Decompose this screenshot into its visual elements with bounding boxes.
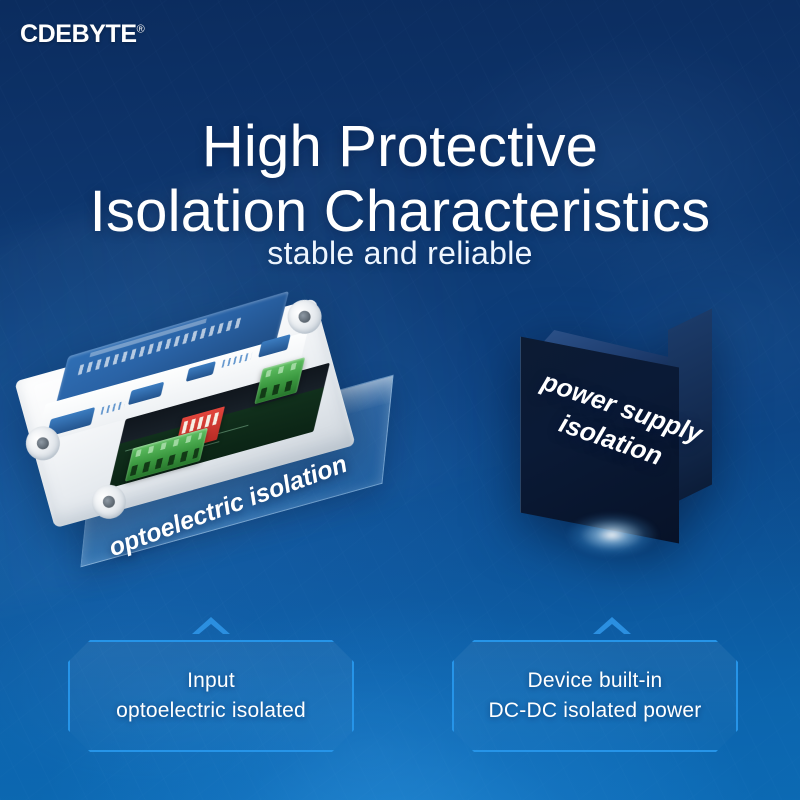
chevron-up-icon-right <box>591 614 633 636</box>
device-tick-row-2 <box>222 352 253 368</box>
device-print-block-3 <box>186 361 216 382</box>
device-print-block-2 <box>128 382 164 406</box>
callout-input-optoelectric-isolated[interactable]: Input optoelectric isolated <box>68 640 354 752</box>
callout-device-dcdc-isolated-power[interactable]: Device built-in DC-DC isolated power <box>452 640 738 752</box>
page-subtitle: stable and reliable <box>0 235 800 272</box>
brand-logo: CDEBYTE® <box>20 22 144 47</box>
brand-name: CDEBYTE <box>20 20 137 48</box>
callout-left-line-2: optoelectric isolated <box>116 696 306 726</box>
device-tick-row-1 <box>100 401 125 415</box>
page-title: High Protective Isolation Characteristic… <box>0 115 800 245</box>
callout-left-line-1: Input <box>187 666 235 696</box>
feature-callouts: Input optoelectric isolated Device built… <box>0 640 800 770</box>
promo-poster: CDEBYTE® High Protective Isolation Chara… <box>0 0 800 800</box>
callout-right-line-2: DC-DC isolated power <box>489 696 702 726</box>
product-illustration: optoelectric isolation power supply isol… <box>0 300 800 610</box>
headline-line-1: High Protective <box>0 115 800 180</box>
callout-right-line-1: Device built-in <box>528 666 663 696</box>
registered-mark-icon: ® <box>137 24 145 36</box>
chevron-up-icon-left <box>190 614 232 636</box>
